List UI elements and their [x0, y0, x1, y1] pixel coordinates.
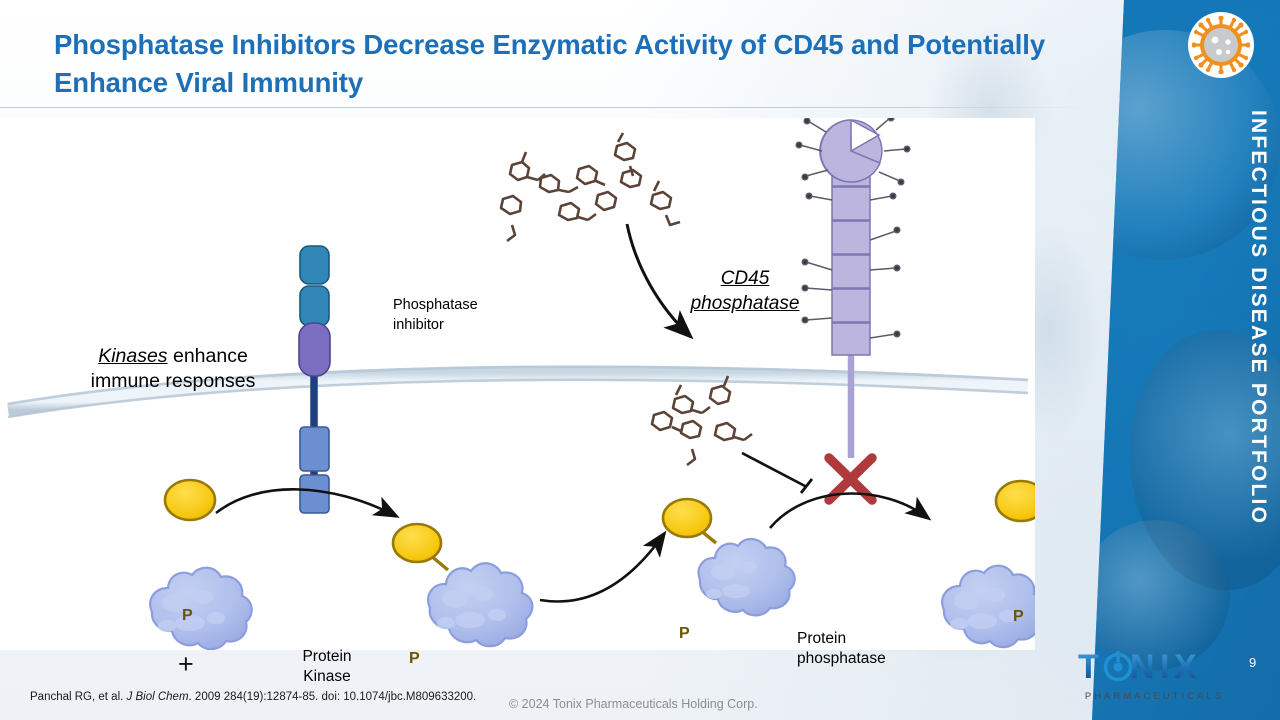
svg-text:I: I [1160, 648, 1169, 684]
virus-icon [1188, 12, 1254, 78]
phosphorylated-protein-center-left [393, 524, 532, 646]
citation: Panchal RG, et al. J Biol Chem. 2009 284… [30, 691, 476, 703]
page-title: Phosphatase Inhibitors Decrease Enzymati… [54, 26, 1064, 102]
inhibitor-line2: inhibitor [393, 317, 444, 333]
protein-kinase-line2: Kinase [303, 668, 350, 685]
protein-phosphatase-line1: Protein [797, 630, 846, 647]
kinases-caption: Kinases enhance immune responses [58, 344, 288, 395]
substrate-protein-left [150, 568, 251, 649]
protein-kinase-caption: Protein Kinase [272, 647, 382, 687]
plus-symbol: + [178, 649, 194, 680]
title-divider [0, 107, 1090, 108]
inhibitor-molecules-extracellular [501, 133, 680, 241]
tonix-wordmark: T N I X [1078, 648, 1228, 684]
kinases-rest: enhance [168, 345, 248, 367]
protein-phosphatase-line2: phosphatase [797, 650, 886, 667]
inhibition-tbar-arrow [742, 453, 812, 493]
phosphate-label-left: P [182, 607, 193, 625]
cd45-line2: phosphatase [691, 293, 800, 314]
phosphate-label-center-left: P [409, 650, 420, 668]
tonix-logo: T N I X PHARMACEUTICALS [1078, 648, 1228, 701]
slide: INFECTIOUS DISEASE PORTFOLIO Phosphatase… [0, 0, 1280, 720]
figure-panel: P P P P Kinases enhance immune responses… [0, 118, 1035, 650]
svg-text:X: X [1174, 648, 1197, 684]
citation-details: . 2009 284(19):12874-85. doi: 10.1074/jb… [189, 691, 477, 703]
svg-text:N: N [1130, 648, 1155, 684]
substrate-transfer-arrow [540, 534, 664, 602]
slide-number: 9 [1249, 655, 1256, 670]
phosphorylated-protein-center-right [663, 499, 795, 615]
protein-phosphatase-caption: Protein phosphatase [797, 629, 927, 669]
cd45-phosphatase-caption: CD45 phosphatase [665, 266, 825, 316]
citation-journal: J Biol Chem [127, 691, 189, 703]
kinases-line2: immune responses [91, 370, 256, 392]
svg-text:T: T [1078, 648, 1099, 684]
sidebar-portfolio-label: INFECTIOUS DISEASE PORTFOLIO [1246, 110, 1270, 525]
inhibitor-line1: Phosphatase [393, 297, 478, 313]
phosphate-label-right: P [1013, 608, 1024, 626]
dephosphorylated-protein-right [942, 566, 1035, 647]
inhibitor-molecules-intracellular [652, 376, 752, 465]
copyright-notice: © 2024 Tonix Pharmaceuticals Holding Cor… [509, 697, 758, 711]
protein-phosphatase-arrow [770, 494, 928, 528]
protein-kinase-line1: Protein [302, 648, 351, 665]
phosphate-free-left [165, 480, 215, 520]
citation-authors: Panchal RG, et al. [30, 691, 127, 703]
phosphate-label-center-right: P [679, 625, 690, 643]
tonix-logo-subtitle: PHARMACEUTICALS [1078, 690, 1228, 701]
phosphatase-inhibitor-caption: Phosphatase inhibitor [393, 296, 513, 335]
phosphate-free-right [996, 481, 1035, 521]
cd45-line1: CD45 [721, 268, 770, 289]
kinases-emphasis: Kinases [98, 345, 167, 367]
